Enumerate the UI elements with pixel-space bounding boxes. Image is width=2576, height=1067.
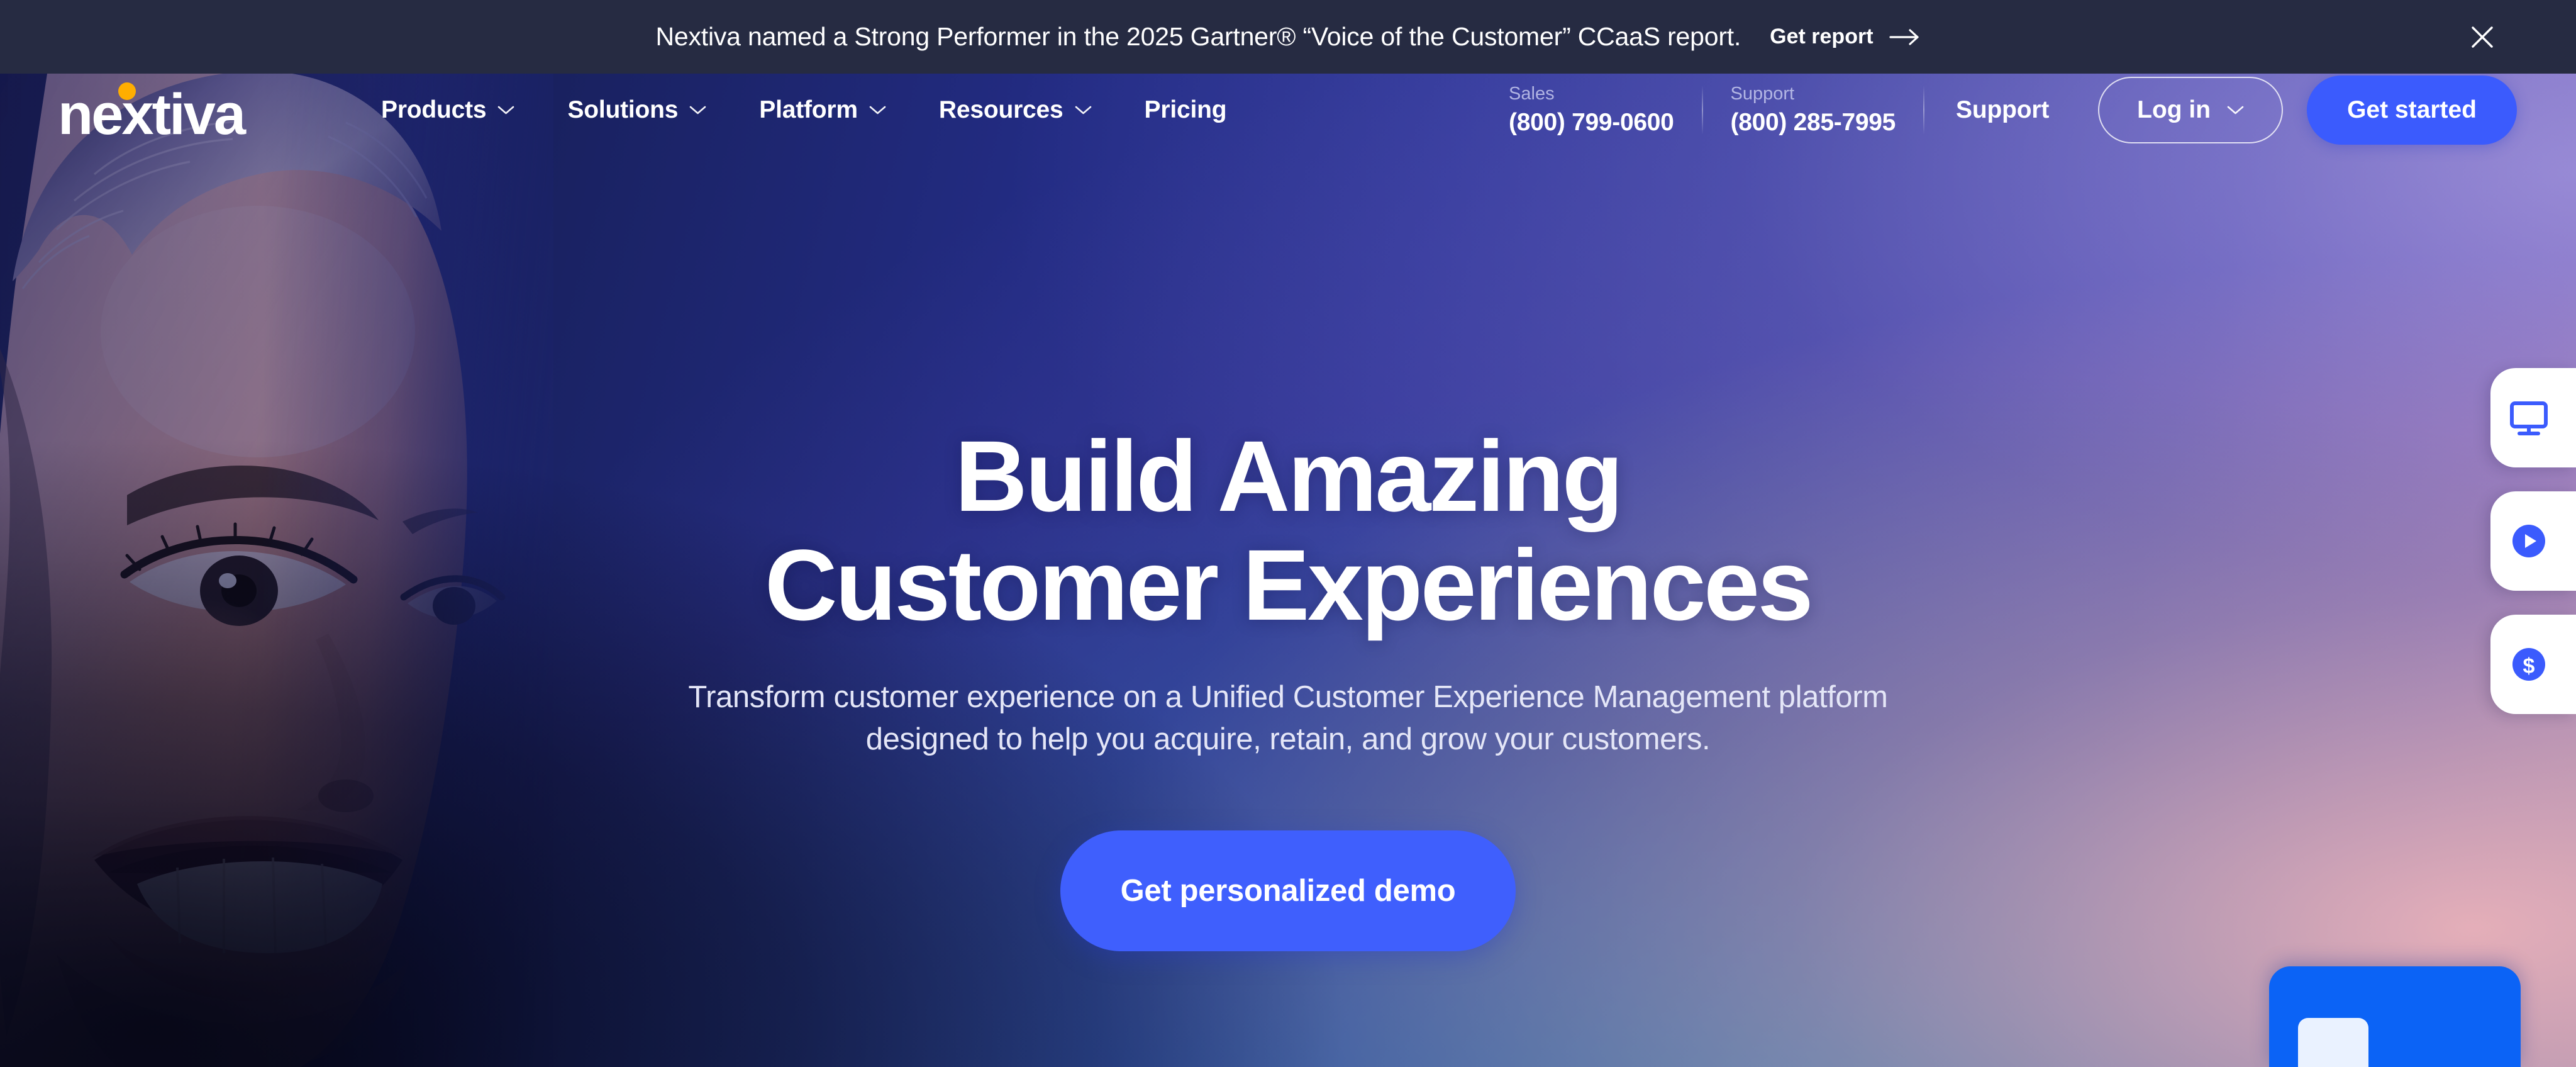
- monitor-icon: [2508, 397, 2550, 439]
- chevron-down-icon: [689, 105, 706, 115]
- svg-text:nextiva: nextiva: [58, 82, 247, 139]
- hero-heading: Build Amazing Customer Experiences: [765, 422, 1811, 640]
- nav-item-platform[interactable]: Platform: [733, 96, 913, 124]
- close-icon: [2468, 23, 2497, 52]
- main-navigation-bar: nextiva Products Solutions Platform: [0, 74, 2576, 146]
- dollar-circle-icon: $: [2508, 644, 2550, 685]
- support-phone-number: (800) 285-7995: [1731, 108, 1896, 137]
- demo-tab[interactable]: [2490, 368, 2576, 467]
- nav-item-pricing[interactable]: Pricing: [1118, 96, 1253, 124]
- get-report-link[interactable]: Get report: [1770, 25, 1920, 49]
- primary-nav-links: Products Solutions Platform Resources: [355, 96, 1253, 124]
- nav-label-solutions: Solutions: [567, 96, 678, 124]
- nav-item-resources[interactable]: Resources: [913, 96, 1118, 124]
- chat-widget[interactable]: [2269, 966, 2521, 1067]
- announcement-banner-content: Nextiva named a Strong Performer in the …: [655, 22, 1920, 52]
- nav-label-products: Products: [381, 96, 486, 124]
- play-circle-icon: [2508, 520, 2550, 562]
- announcement-message: Nextiva named a Strong Performer in the …: [655, 22, 1741, 52]
- support-phone-label: Support: [1731, 82, 1896, 106]
- pricing-tab[interactable]: $: [2490, 615, 2576, 714]
- hero-content: Build Amazing Customer Experiences Trans…: [0, 74, 2576, 1067]
- get-personalized-demo-button[interactable]: Get personalized demo: [1060, 830, 1516, 951]
- hero-heading-line2: Customer Experiences: [765, 528, 1811, 641]
- hero-subtitle: Transform customer experience on a Unifi…: [681, 676, 1895, 761]
- nav-label-platform: Platform: [759, 96, 858, 124]
- chevron-down-icon: [497, 105, 514, 115]
- chevron-down-icon: [1075, 105, 1092, 115]
- login-button[interactable]: Log in: [2098, 77, 2283, 143]
- sales-phone-number: (800) 799-0600: [1509, 108, 1674, 137]
- chat-bubble-icon: [2298, 1018, 2368, 1067]
- arrow-right-icon: [1889, 26, 1921, 48]
- get-started-button[interactable]: Get started: [2307, 75, 2517, 145]
- floating-side-tabs: $: [2490, 368, 2576, 714]
- hero-heading-line1: Build Amazing: [955, 420, 1621, 532]
- video-tab[interactable]: [2490, 491, 2576, 591]
- nav-item-solutions[interactable]: Solutions: [541, 96, 733, 124]
- sales-phone-label: Sales: [1509, 82, 1674, 106]
- login-button-label: Log in: [2137, 96, 2211, 124]
- svg-text:$: $: [2523, 654, 2535, 678]
- nav-item-support[interactable]: Support: [1924, 96, 2080, 124]
- nav-label-resources: Resources: [939, 96, 1063, 124]
- nextiva-logo-icon: nextiva: [58, 81, 297, 139]
- hero-section: nextiva Products Solutions Platform: [0, 74, 2576, 1067]
- nav-right-cluster: Sales (800) 799-0600 Support (800) 285-7…: [1481, 75, 2517, 145]
- sales-phone[interactable]: Sales (800) 799-0600: [1481, 82, 1702, 137]
- nav-label-pricing: Pricing: [1145, 96, 1227, 124]
- announcement-banner: Nextiva named a Strong Performer in the …: [0, 0, 2576, 74]
- support-phone[interactable]: Support (800) 285-7995: [1703, 82, 1924, 137]
- chevron-down-icon: [869, 105, 886, 115]
- close-banner-button[interactable]: [2463, 18, 2502, 57]
- nextiva-logo[interactable]: nextiva: [58, 81, 297, 139]
- get-report-label: Get report: [1770, 25, 1873, 49]
- nav-item-products[interactable]: Products: [355, 96, 541, 124]
- chevron-down-icon: [2227, 105, 2244, 115]
